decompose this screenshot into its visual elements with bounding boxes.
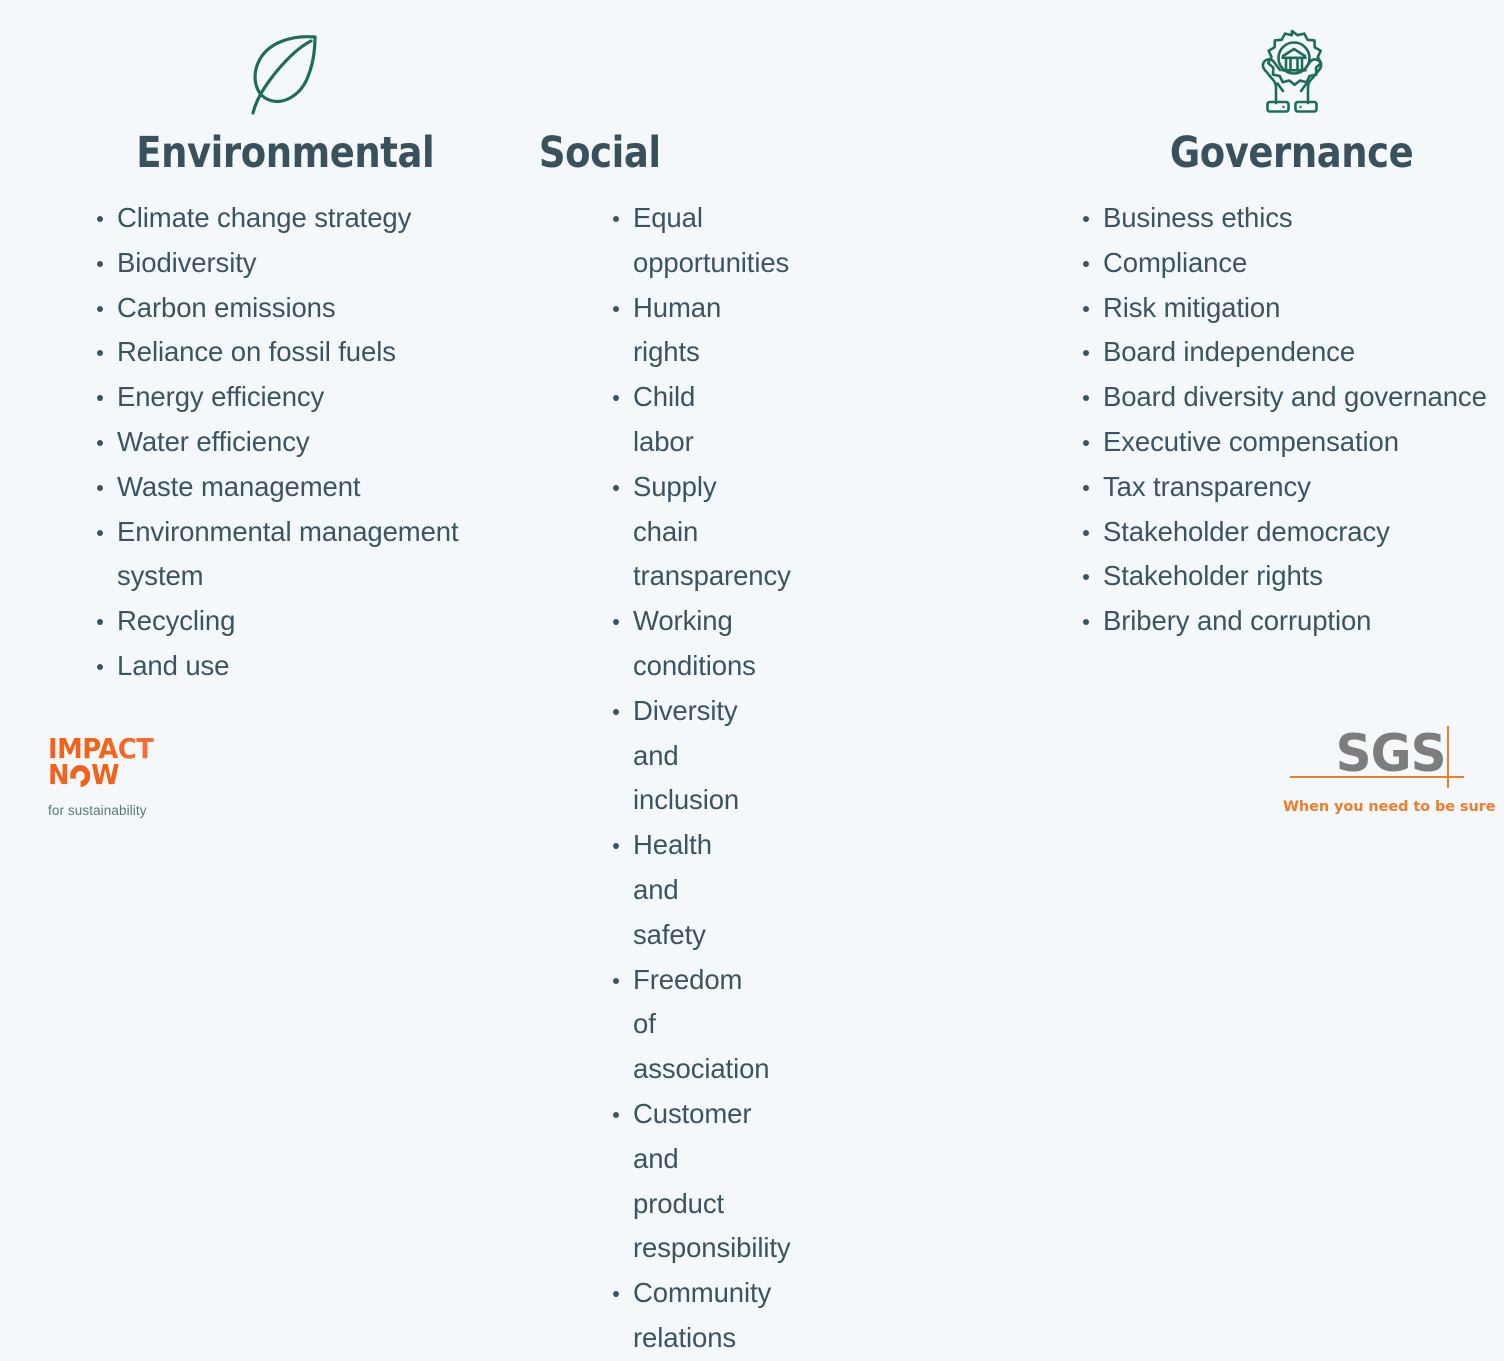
sgs-logo: SGS When you need to be sure [1283,730,1463,815]
impact-now-line1: IMPACT [48,736,287,762]
impact-now-tagline: for sustainability [48,803,308,818]
list-item: Executive compensation [1070,420,1504,465]
column-heading: Governance [1170,132,1414,175]
sgs-tagline: When you need to be sure [1283,799,1463,815]
list-item: Health and safety [600,823,633,957]
list-item: Diversity and inclusion [600,689,633,823]
list-item: Supply chain transparency [600,465,633,599]
impact-now-w: W [91,758,119,791]
sgs-horizontal-rule-icon [1290,776,1464,778]
esg-slide: Environmental Climate change strategy Bi… [0,0,1504,846]
hands-holding-gear-bank-icon [1070,0,1504,120]
list-item: Child labor [600,375,633,465]
impact-now-line2: NW [48,762,287,788]
list-item: Customer and product responsibility [600,1092,633,1271]
list-item: Working conditions [600,599,633,689]
list-item: Tax transparency [1070,465,1504,510]
list-item: Equal opportunities [600,196,633,286]
impact-now-n: N [48,758,69,791]
list-item: Stakeholder rights [1070,554,1504,599]
sgs-wordmark-block: SGS [1283,730,1463,786]
list-item: Compliance [1070,241,1504,286]
list-item: Human rights [600,286,633,376]
impact-now-o-icon [70,765,90,787]
list-item: Stakeholder democracy [1070,510,1504,555]
sgs-vertical-rule-icon [1447,726,1449,788]
list-item: Board independence [1070,330,1504,375]
column-governance: Governance Business ethics Compliance Ri… [1070,0,1504,644]
list-item: Board diversity and governance [1070,375,1504,420]
list-item: Business ethics [1070,196,1504,241]
list-item: Community relations [600,1271,633,1361]
list-item: Risk mitigation [1070,286,1504,331]
sgs-wordmark: SGS [1336,728,1446,780]
list-governance: Business ethics Compliance Risk mitigati… [1070,196,1504,644]
list-item: Freedom of association [600,958,633,1092]
list-item: Bribery and corruption [1070,599,1504,644]
column-social: Social Equal opportunities Human rights … [47,0,626,1361]
column-heading: Social [539,132,661,175]
impact-now-logo: IMPACT NW for sustainability [48,736,308,818]
heading-row-governance: Governance [1070,120,1504,182]
